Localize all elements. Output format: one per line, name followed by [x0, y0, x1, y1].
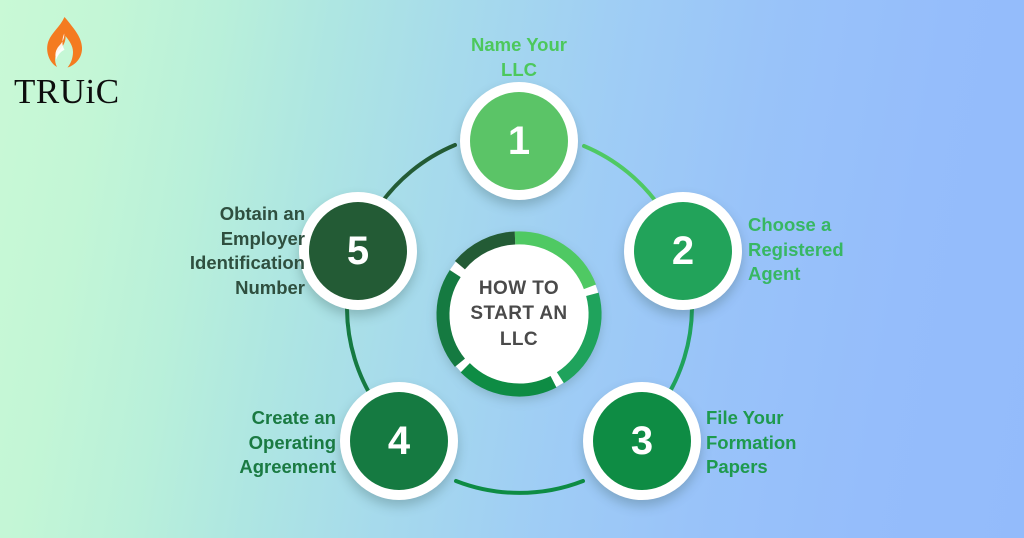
step-label-3-line-2: Formation: [706, 431, 876, 456]
step-number-3-disc: 3: [593, 392, 691, 490]
step-label-3: File Your Formation Papers: [706, 406, 876, 480]
step-node-5[interactable]: 5: [299, 192, 417, 310]
step-label-4-line-3: Agreement: [166, 455, 336, 480]
step-number-2-disc: 2: [634, 202, 732, 300]
step-node-1[interactable]: 1: [460, 82, 578, 200]
step-label-4-line-2: Operating: [166, 431, 336, 456]
step-label-3-line-1: File Your: [706, 406, 876, 431]
infographic-canvas: TRUiC: [0, 0, 1024, 538]
step-label-2-line-1: Choose a: [748, 213, 908, 238]
step-node-2[interactable]: 2: [624, 192, 742, 310]
step-number-1-disc: 1: [470, 92, 568, 190]
step-label-3-line-3: Papers: [706, 455, 876, 480]
hub: HOW TO START AN LLC: [427, 222, 611, 406]
step-label-2: Choose a Registered Agent: [748, 213, 908, 287]
step-label-5: Obtain an Employer Identification Number: [125, 202, 305, 300]
hub-title-line-2: START AN: [470, 301, 567, 326]
step-label-1-line-1: Name Your: [434, 33, 604, 58]
step-label-1: Name Your LLC: [434, 33, 604, 82]
step-label-4: Create an Operating Agreement: [166, 406, 336, 480]
connector-3-4: [456, 481, 583, 493]
step-label-2-line-3: Agent: [748, 262, 908, 287]
step-label-5-line-2: Employer: [125, 227, 305, 252]
step-label-4-line-1: Create an: [166, 406, 336, 431]
step-label-5-line-3: Identification: [125, 251, 305, 276]
hub-title-line-3: LLC: [500, 327, 538, 352]
step-label-1-line-2: LLC: [434, 58, 604, 83]
step-label-5-line-4: Number: [125, 276, 305, 301]
step-number-5: 5: [347, 231, 369, 271]
step-number-2: 2: [672, 231, 694, 271]
hub-title: HOW TO START AN LLC: [427, 222, 611, 406]
step-number-1: 1: [508, 121, 530, 161]
step-node-3[interactable]: 3: [583, 382, 701, 500]
step-number-5-disc: 5: [309, 202, 407, 300]
connector-5-1: [377, 145, 455, 209]
hub-title-line-1: HOW TO: [479, 276, 559, 301]
step-label-5-line-1: Obtain an: [125, 202, 305, 227]
step-number-3: 3: [631, 421, 653, 461]
step-label-2-line-2: Registered: [748, 238, 908, 263]
step-number-4: 4: [388, 421, 410, 461]
step-number-4-disc: 4: [350, 392, 448, 490]
step-node-4[interactable]: 4: [340, 382, 458, 500]
